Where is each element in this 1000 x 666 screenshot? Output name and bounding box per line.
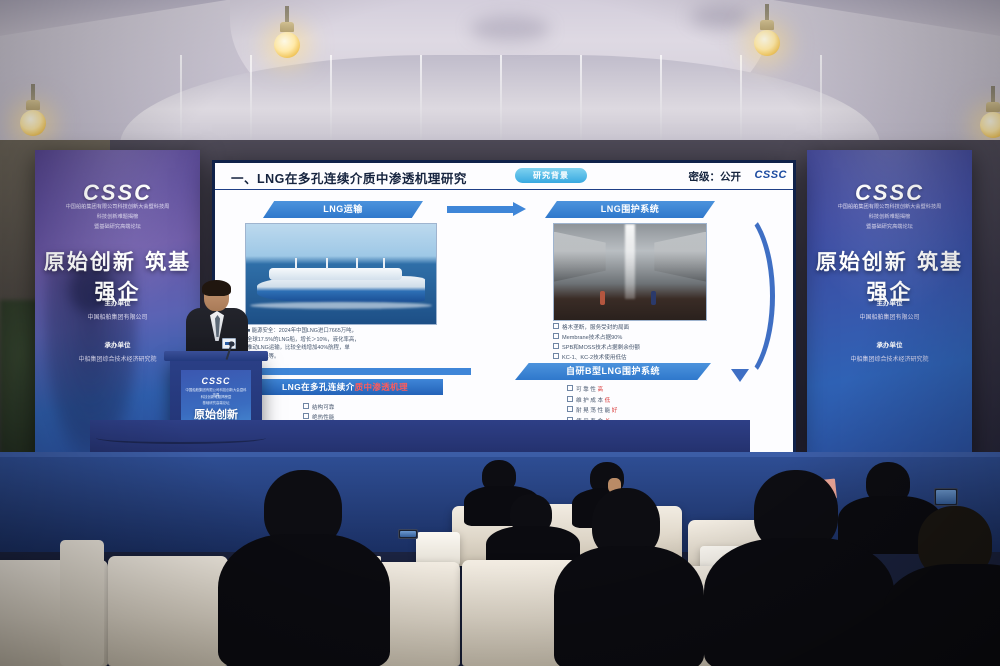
phone bbox=[398, 529, 418, 539]
ceiling bbox=[0, 0, 1000, 150]
banner-title: 原始创新 筑基强企 bbox=[807, 246, 972, 306]
slide-header: 一、LNG在多孔连续介质中渗透机理研究 研究背景 密级：公开 CSSC bbox=[215, 163, 793, 190]
stage-edge bbox=[0, 452, 1000, 457]
transport-paragraph: ■ 能源安全：2024年中国LNG进口7665万吨， 全球17.5%的LNG船，… bbox=[247, 327, 437, 361]
banner-host-name: 中国船舶集团有限公司 bbox=[43, 313, 192, 324]
arrow-left-icon bbox=[261, 368, 471, 375]
slide-logo: CSSC bbox=[754, 169, 787, 181]
banner-organizer-label: 承办单位 bbox=[105, 342, 131, 349]
slide-title: 一、LNG在多孔连续介质中渗透机理研究 bbox=[231, 168, 467, 187]
slide-surface: 一、LNG在多孔连续介质中渗透机理研究 研究背景 密级：公开 CSSC LNG运… bbox=[215, 163, 793, 455]
box-header-typeB: 自研B型LNG围护系统 bbox=[515, 363, 711, 380]
podium-subtitle-3: 基础研究高端论坛 bbox=[185, 401, 247, 406]
stage-cable bbox=[96, 432, 266, 444]
research-box-header: LNG在多孔连续介质中渗透机理 bbox=[247, 379, 443, 395]
banner-subtitle-2: 科技创新难题揭榜 bbox=[43, 213, 192, 221]
podium-subtitle-2: 科技创新难题揭榜暨 bbox=[185, 395, 247, 400]
audience-member-foreground bbox=[568, 488, 686, 666]
pendant-lamp-icon bbox=[272, 6, 302, 58]
pendant-lamp-icon bbox=[18, 84, 48, 136]
slide-section-badge: 研究背景 bbox=[515, 168, 587, 183]
audience-member-foreground bbox=[898, 506, 1000, 666]
side-table bbox=[416, 532, 460, 566]
pendant-lamp-icon bbox=[752, 4, 782, 56]
box-header-containment: LNG围护系统 bbox=[545, 201, 715, 218]
banner-title: 原始创新 筑基强企 bbox=[35, 246, 200, 306]
conference-hall-photo: CSSC 中国船舶集团有限公司科技创新大会暨科技周 科技创新难题揭榜 暨基础研究… bbox=[0, 0, 1000, 666]
audience-member-foreground bbox=[722, 470, 872, 666]
banner-host-label: 主办单位 bbox=[105, 300, 131, 307]
banner-host-name: 中国船舶集团有限公司 bbox=[815, 313, 964, 324]
pendant-lamp-icon bbox=[978, 86, 1000, 138]
banner-host-label: 主办单位 bbox=[877, 300, 903, 307]
podium-top bbox=[164, 351, 268, 361]
audience-member bbox=[492, 494, 572, 566]
banner-organizer-label: 承办单位 bbox=[877, 342, 903, 349]
containment-bullets: 格木垄断，服务受封的局面 Membrane技术占据90% SPB和MOSS技术占… bbox=[553, 323, 640, 363]
audience-member-foreground bbox=[236, 470, 366, 666]
banner-subtitle-1: 中国船舶集团有限公司科技创新大会暨科技周 bbox=[815, 203, 964, 211]
speaker-hair bbox=[202, 280, 231, 296]
podium-logo: CSSC bbox=[181, 376, 251, 386]
seat-arm bbox=[60, 540, 104, 666]
banner-subtitle-3: 暨基础研究高端论坛 bbox=[43, 223, 192, 231]
banner-organizer-name: 中船集团综合技术经济研究院 bbox=[815, 355, 964, 366]
camera-screen bbox=[934, 488, 958, 506]
banner-subtitle-2: 科技创新难题揭榜 bbox=[815, 213, 964, 221]
photo-membrane-tank bbox=[553, 223, 707, 321]
slide-security-label: 密级：公开 bbox=[689, 169, 742, 184]
seat bbox=[108, 556, 228, 666]
box-header-transport: LNG运输 bbox=[263, 201, 423, 218]
arrow-curve-head-icon bbox=[731, 369, 749, 382]
projection-screen: 一、LNG在多孔连续介质中渗透机理研究 研究背景 密级：公开 CSSC LNG运… bbox=[212, 160, 796, 458]
banner-right: CSSC 中国船舶集团有限公司科技创新大会暨科技周 科技创新难题揭榜 暨基础研究… bbox=[807, 150, 972, 460]
arrow-right-icon bbox=[447, 206, 513, 213]
banner-subtitle-3: 暨基础研究高端论坛 bbox=[815, 223, 964, 231]
photo-lng-carrier bbox=[245, 223, 437, 325]
banner-subtitle-1: 中国船舶集团有限公司科技创新大会暨科技周 bbox=[43, 203, 192, 211]
